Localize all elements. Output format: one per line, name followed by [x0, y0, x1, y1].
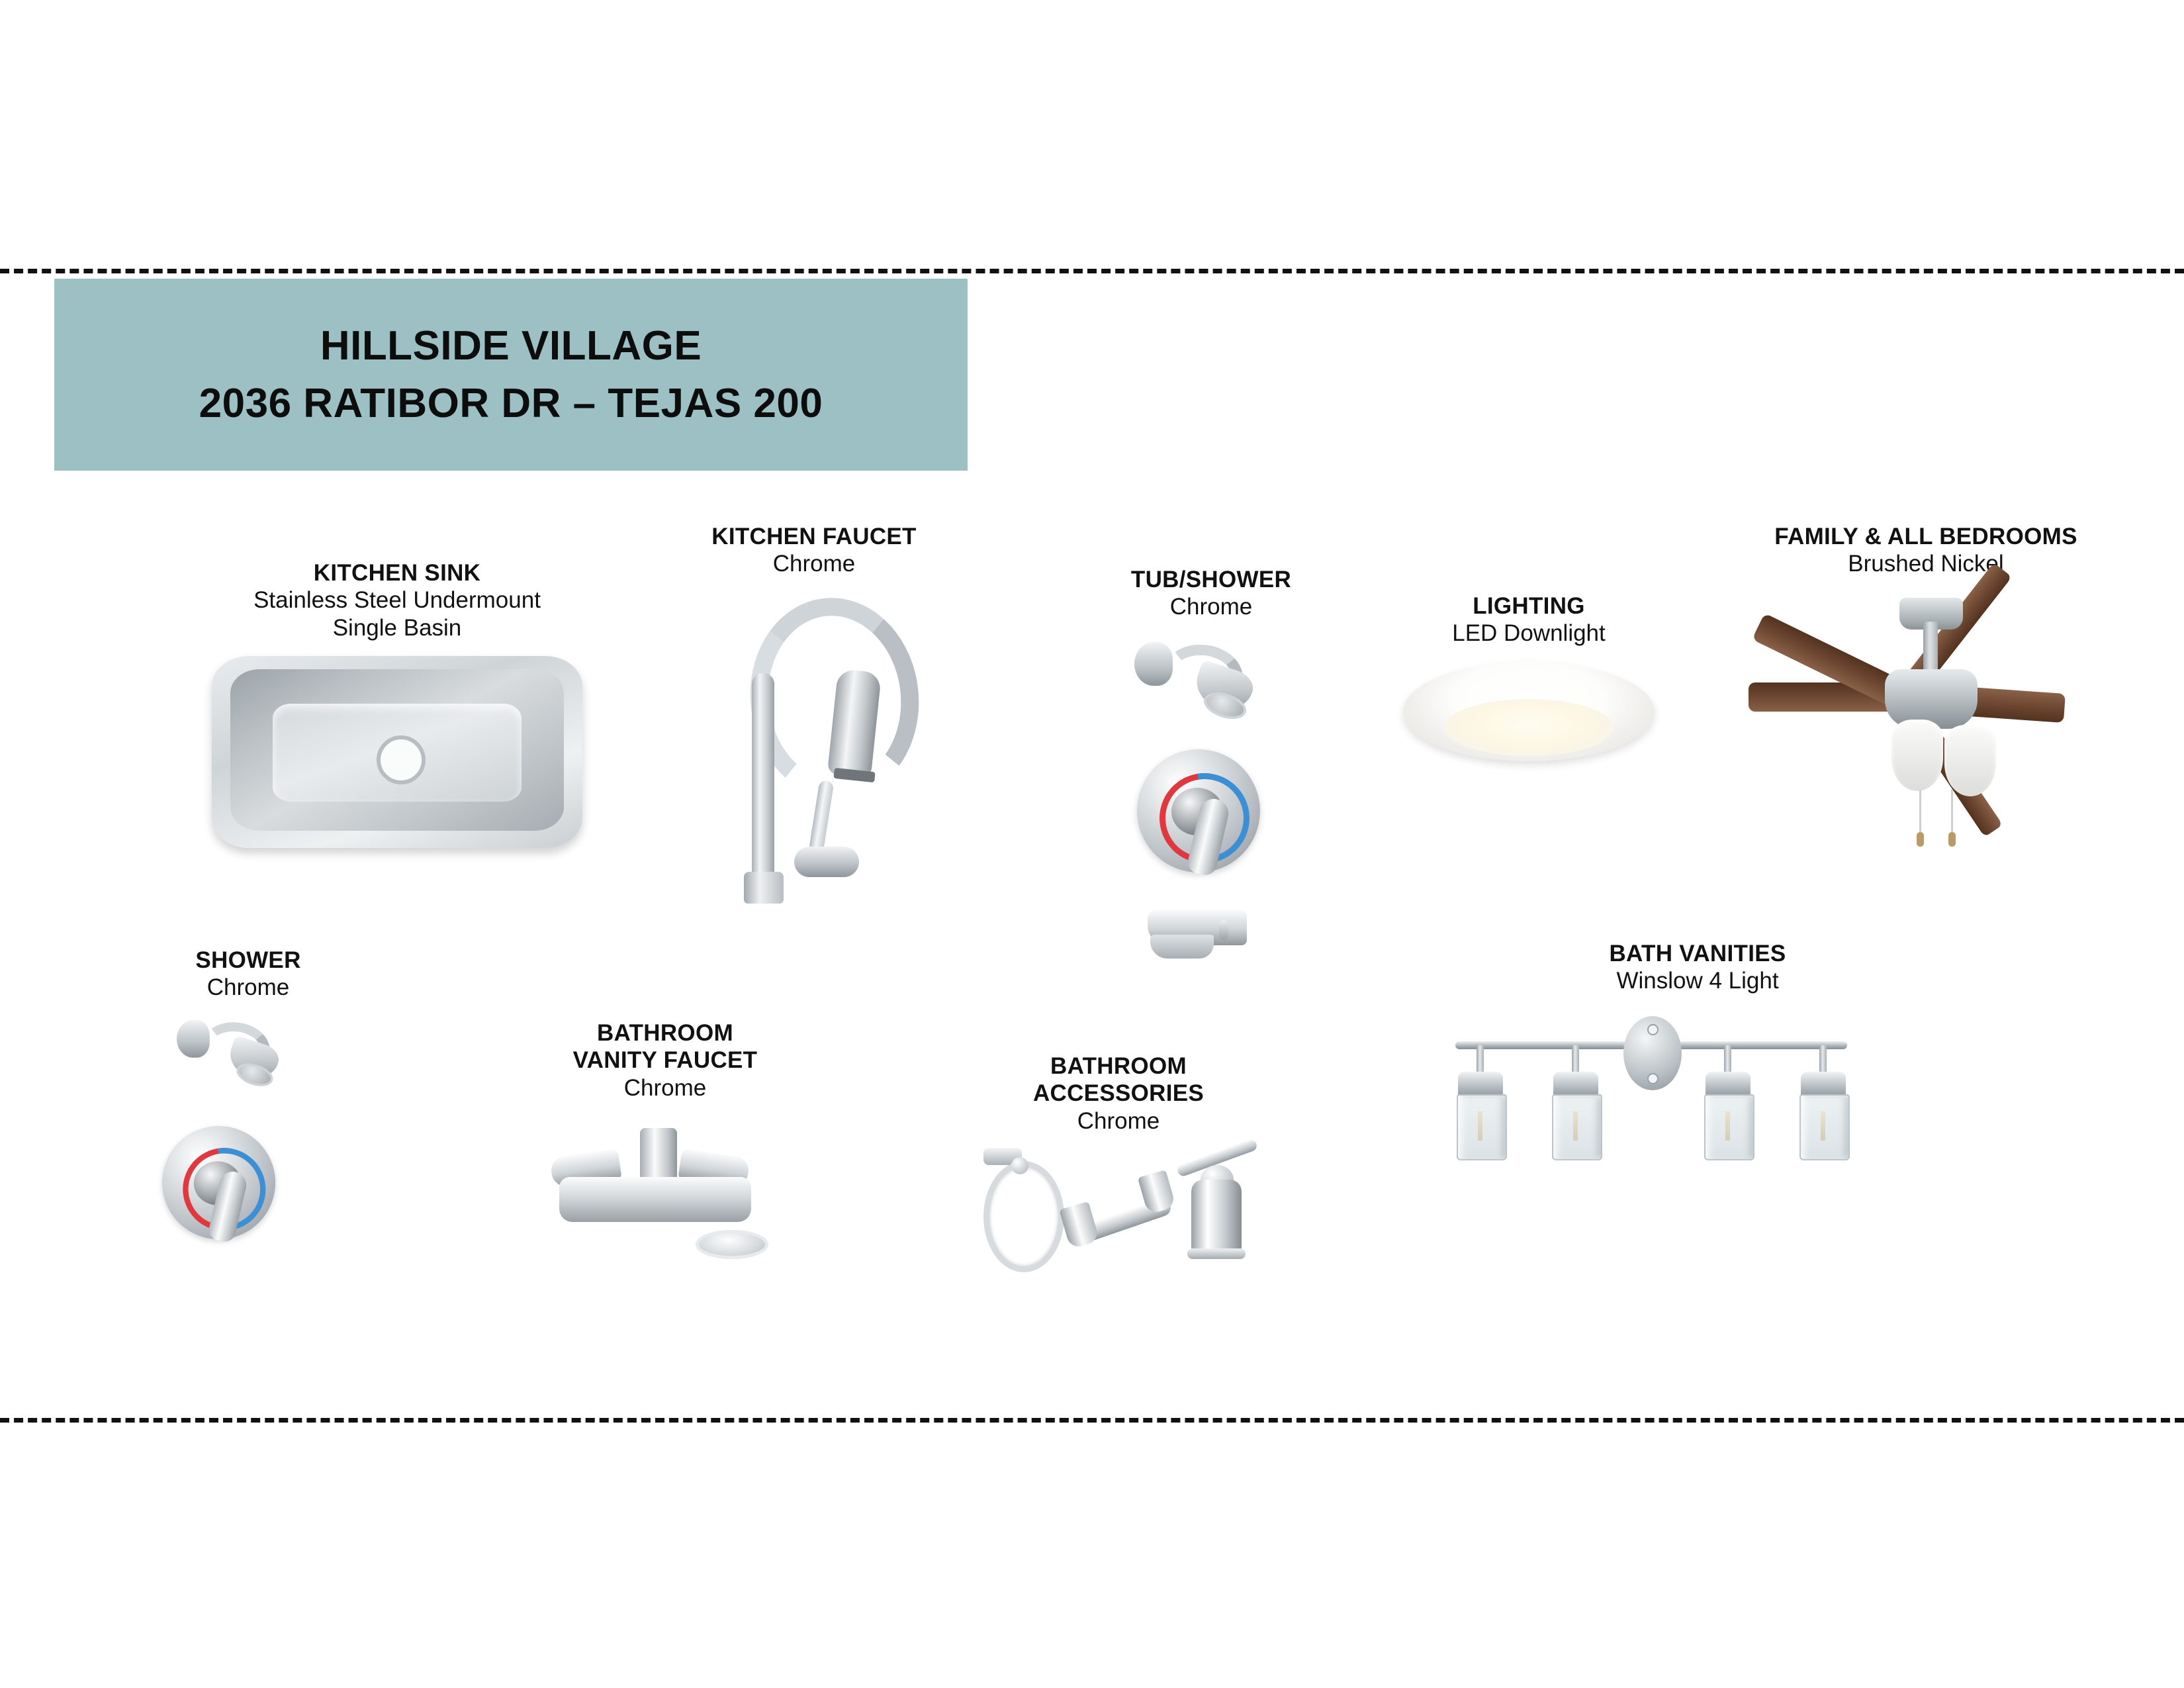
- shower-image: [162, 1012, 334, 1290]
- caption-kitchen-faucet: KITCHEN FAUCET Chrome: [711, 523, 916, 578]
- title-plate: HILLSIDE VILLAGE 2036 RATIBOR DR – TEJAS…: [54, 279, 968, 471]
- paper-holder-left-post: [1059, 1201, 1099, 1249]
- faucet-hub: [794, 847, 859, 877]
- caption-lighting: LIGHTING LED Downlight: [1452, 592, 1606, 647]
- caption-bathroom-accessories: BATHROOM ACCESSORIES Chrome: [1033, 1053, 1204, 1135]
- lav-drain-flange: [696, 1230, 768, 1259]
- community-name: HILLSIDE VILLAGE: [320, 324, 702, 367]
- item-lighting: LIGHTING LED Downlight: [1383, 592, 1674, 761]
- ceiling-fan-image: [1701, 583, 2151, 802]
- shower-sub1: Chrome: [195, 974, 300, 1001]
- fan-pull-chain[interactable]: [1951, 790, 1953, 836]
- bath-vanities-title: BATH VANITIES: [1609, 940, 1786, 967]
- bathroom-vanity-faucet-image: [539, 1113, 791, 1266]
- fan-light-shade: [1891, 720, 1943, 791]
- caption-shower: SHOWER Chrome: [195, 947, 300, 1002]
- vanity-faucet-title1: BATHROOM: [573, 1019, 758, 1047]
- fan-pull-chain[interactable]: [1919, 790, 1921, 836]
- item-bath-vanities: BATH VANITIES Winslow 4 Light: [1542, 940, 1853, 1158]
- caption-kitchen-sink: KITCHEN SINK Stainless Steel Undermount …: [253, 559, 541, 641]
- sink-drain-icon: [377, 735, 426, 784]
- towel-bar-base: [1187, 1248, 1246, 1259]
- shower-showerhead: [177, 1012, 296, 1092]
- kitchen-sink-sub2: Single Basin: [253, 614, 541, 641]
- bath-vanities-sub1: Winslow 4 Light: [1609, 967, 1786, 994]
- tub-spout: [1148, 906, 1273, 965]
- accessories-title1: BATHROOM: [1033, 1053, 1204, 1080]
- towel-ring: [983, 1161, 1064, 1272]
- shower-valve-trim: [162, 1126, 284, 1242]
- item-tub-shower: TUB/SHOWER Chrome: [1072, 566, 1350, 977]
- lighting-image: [1403, 662, 1655, 761]
- caption-bathroom-vanity-faucet: BATHROOM VANITY FAUCET Chrome: [573, 1019, 758, 1102]
- divider-line-top: [0, 269, 2184, 273]
- downlight-lens: [1444, 699, 1614, 756]
- vanity-light-filament: [1725, 1111, 1730, 1141]
- lav-faucet-deck-plate: [559, 1177, 751, 1222]
- tub-shower-sub1: Chrome: [1131, 593, 1291, 620]
- lighting-title: LIGHTING: [1452, 592, 1606, 620]
- item-bathroom-vanity-faucet: BATHROOM VANITY FAUCET Chrome: [516, 1019, 814, 1266]
- fan-pull-chain-knob[interactable]: [1948, 832, 1956, 847]
- tub-shower-title: TUB/SHOWER: [1131, 566, 1291, 593]
- accessories-sub1: Chrome: [1033, 1107, 1204, 1135]
- item-shower: SHOWER Chrome: [132, 947, 364, 1290]
- bath-vanities-image: [1446, 1006, 1856, 1158]
- item-kitchen-sink: KITCHEN SINK Stainless Steel Undermount …: [192, 559, 602, 848]
- bathroom-accessories-image: [979, 1148, 1257, 1280]
- tub-valve-trim: [1137, 749, 1269, 875]
- fan-motor-housing: [1885, 669, 1978, 729]
- kitchen-sink-sub1: Stainless Steel Undermount: [253, 586, 541, 614]
- vanity-faucet-title2: VANITY FAUCET: [573, 1047, 758, 1074]
- kitchen-sink-title: KITCHEN SINK: [253, 559, 541, 586]
- accessories-title2: ACCESSORIES: [1033, 1080, 1204, 1107]
- fan-pull-chain-knob[interactable]: [1917, 832, 1924, 847]
- shower-title: SHOWER: [195, 947, 300, 974]
- faucet-column: [752, 673, 774, 885]
- vanity-faucet-sub1: Chrome: [573, 1074, 758, 1102]
- divider-line-bottom: [0, 1418, 2184, 1423]
- kitchen-faucet-image: [715, 594, 913, 905]
- vanity-backplate-screw-icon: [1649, 1025, 1657, 1034]
- kitchen-sink-image: [212, 656, 582, 848]
- vanity-backplate-screw-icon: [1649, 1074, 1657, 1083]
- item-bathroom-accessories: BATHROOM ACCESSORIES Chrome: [979, 1053, 1257, 1280]
- vanity-light-filament: [1821, 1111, 1825, 1141]
- caption-tub-shower: TUB/SHOWER Chrome: [1131, 566, 1291, 621]
- vanity-light-filament: [1573, 1111, 1578, 1141]
- towel-bar-post: [1191, 1180, 1242, 1254]
- faucet-base: [744, 872, 784, 904]
- kitchen-faucet-title: KITCHEN FAUCET: [711, 523, 916, 550]
- bedrooms-title: FAMILY & ALL BEDROOMS: [1774, 523, 2077, 550]
- tub-shower-image: [1112, 633, 1310, 977]
- vanity-light-filament: [1478, 1111, 1482, 1141]
- tub-showerhead: [1134, 633, 1273, 726]
- spec-board: HILLSIDE VILLAGE 2036 RATIBOR DR – TEJAS…: [0, 0, 2184, 1688]
- caption-bath-vanities: BATH VANITIES Winslow 4 Light: [1609, 940, 1786, 995]
- item-kitchen-faucet: KITCHEN FAUCET Chrome: [675, 523, 953, 905]
- fan-light-shade: [1944, 725, 1996, 796]
- towel-ring-ball-icon: [1011, 1157, 1028, 1174]
- caption-family-and-all-bedrooms: FAMILY & ALL BEDROOMS Brushed Nickel: [1774, 523, 2077, 578]
- item-family-and-all-bedrooms: FAMILY & ALL BEDROOMS Brushed Nickel: [1707, 523, 2144, 802]
- lighting-sub1: LED Downlight: [1452, 620, 1606, 647]
- tub-spout-lip: [1150, 935, 1214, 959]
- tub-spout-diverter-icon: [1219, 920, 1228, 940]
- kitchen-faucet-sub1: Chrome: [711, 550, 916, 577]
- bedrooms-sub1: Brushed Nickel: [1774, 550, 2077, 577]
- address-and-plan: 2036 RATIBOR DR – TEJAS 200: [199, 382, 823, 425]
